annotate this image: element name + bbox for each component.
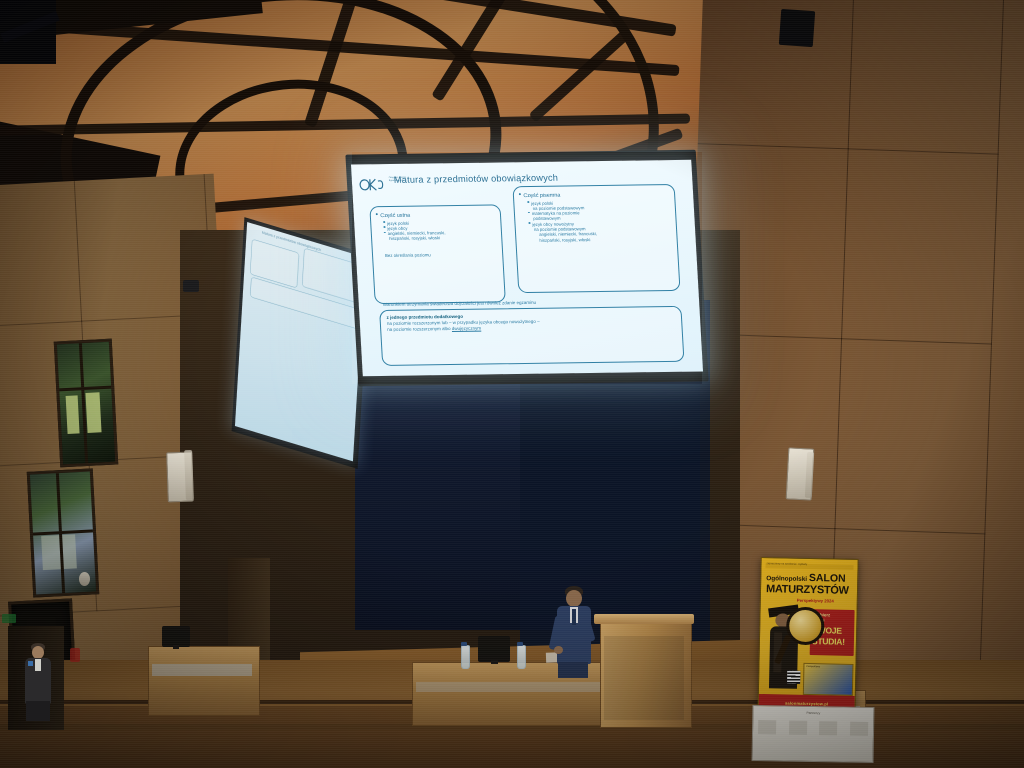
bottle-cap xyxy=(461,642,467,646)
slide-title: Matura z przedmiotów obowiązkowych xyxy=(394,173,559,185)
screen-surface: Okręgowa Komisja Egzaminacyjna Matura z … xyxy=(351,160,703,376)
window-upper xyxy=(54,339,119,468)
banner-mini-ad: Perspektywy xyxy=(803,663,854,696)
ceiling-mount-speaker-icon xyxy=(183,280,199,292)
sub-bullet-icon xyxy=(528,212,530,214)
bullet-icon xyxy=(376,213,378,215)
window-light xyxy=(66,395,80,434)
written-item: hiszpański, rosyjski, włoski xyxy=(539,236,671,243)
oral-item: hiszpański, rosyjski, włoski xyxy=(389,235,496,242)
attendee-standing-fg xyxy=(22,643,54,721)
partners-logo-row xyxy=(758,720,868,736)
presenter xyxy=(552,586,596,678)
side-projection-screen: Matura z przedmiotów obowiązkowych xyxy=(232,217,371,469)
water-bottle xyxy=(461,645,470,669)
sub-bullet-icon xyxy=(383,221,385,223)
lectern-shadow xyxy=(604,636,684,720)
wall-tile xyxy=(841,148,999,344)
exit-sign xyxy=(2,614,16,623)
bullet-icon xyxy=(519,193,521,195)
attendee-shirt xyxy=(35,659,41,671)
sub-bullet-icon xyxy=(383,226,385,228)
partner-logo xyxy=(850,722,868,736)
oral-heading: Część ustna xyxy=(376,211,495,219)
side-screen-surface: Matura z przedmiotów obowiązkowych xyxy=(235,222,365,461)
partners-title: Partnerzy xyxy=(753,710,873,716)
partner-logo xyxy=(819,721,837,735)
ceiling-speaker-icon xyxy=(779,9,815,47)
wall-tile xyxy=(698,0,856,149)
wall-tile xyxy=(848,0,1006,155)
desk-panel xyxy=(152,664,252,676)
sub-bullet-icon xyxy=(528,222,530,224)
bottle-cap xyxy=(517,642,523,646)
slide-box-written: Część pisemna język polski na poziomie p… xyxy=(512,184,680,293)
event-rollup-banner: zapraszamy na spotkania i wykłady Ogólno… xyxy=(757,557,858,721)
presenter-hand-left xyxy=(554,646,563,654)
water-bottle xyxy=(517,645,526,669)
wall-speaker-left-side xyxy=(184,450,194,500)
monitor-stand xyxy=(491,660,498,664)
sub-bullet-icon xyxy=(384,232,386,234)
partner-logo xyxy=(789,721,807,735)
condition-underlined: dwujęzycznym xyxy=(452,326,482,331)
lectern-top xyxy=(594,614,694,624)
fire-extinguisher-icon xyxy=(70,648,80,662)
attendee-badge xyxy=(28,661,33,666)
partners-board: Partnerzy xyxy=(752,705,875,763)
slide-box-oral: Część ustna język polski język obcy angi… xyxy=(369,204,506,304)
window-light xyxy=(85,392,101,433)
banner-line-3: Perspektywy 2024 xyxy=(797,598,834,604)
sub-bullet-icon xyxy=(527,201,529,203)
auditorium-photo: UNIWERSYTET Matura z przedmiotów obowiąz… xyxy=(0,0,1024,768)
desk-panel xyxy=(416,682,604,692)
partner-logo xyxy=(758,720,776,734)
qr-code-icon xyxy=(787,671,800,684)
bottom-lead-line: Warunkiem otrzymania świadectwa dojrzało… xyxy=(383,300,537,307)
wall-lamp-icon xyxy=(79,572,90,586)
attendee-legs xyxy=(26,701,50,721)
main-projection-screen: Okręgowa Komisja Egzaminacyjna Matura z … xyxy=(345,150,708,387)
confidence-monitor-left xyxy=(162,626,190,647)
presenter-head xyxy=(566,590,582,607)
presenter-tie xyxy=(572,609,576,625)
oke-logo-icon xyxy=(358,176,389,192)
slide-box-conditions: z jednego przedmiotu dodatkowego na pozi… xyxy=(379,306,684,366)
wall-tile xyxy=(834,338,992,534)
side-desk-left xyxy=(148,646,260,716)
presentation-slide: Okręgowa Komisja Egzaminacyjna Matura z … xyxy=(351,160,703,376)
confidence-monitor-center xyxy=(478,636,510,662)
presenter-legs xyxy=(558,662,588,678)
monitor-stand xyxy=(173,645,179,649)
banner-line-2: MATURZYSTÓW xyxy=(766,583,849,597)
wall-tile xyxy=(0,181,82,328)
mini-ad-text: Perspektywy xyxy=(806,665,820,668)
oral-note: Bez określania poziomu xyxy=(385,251,497,258)
